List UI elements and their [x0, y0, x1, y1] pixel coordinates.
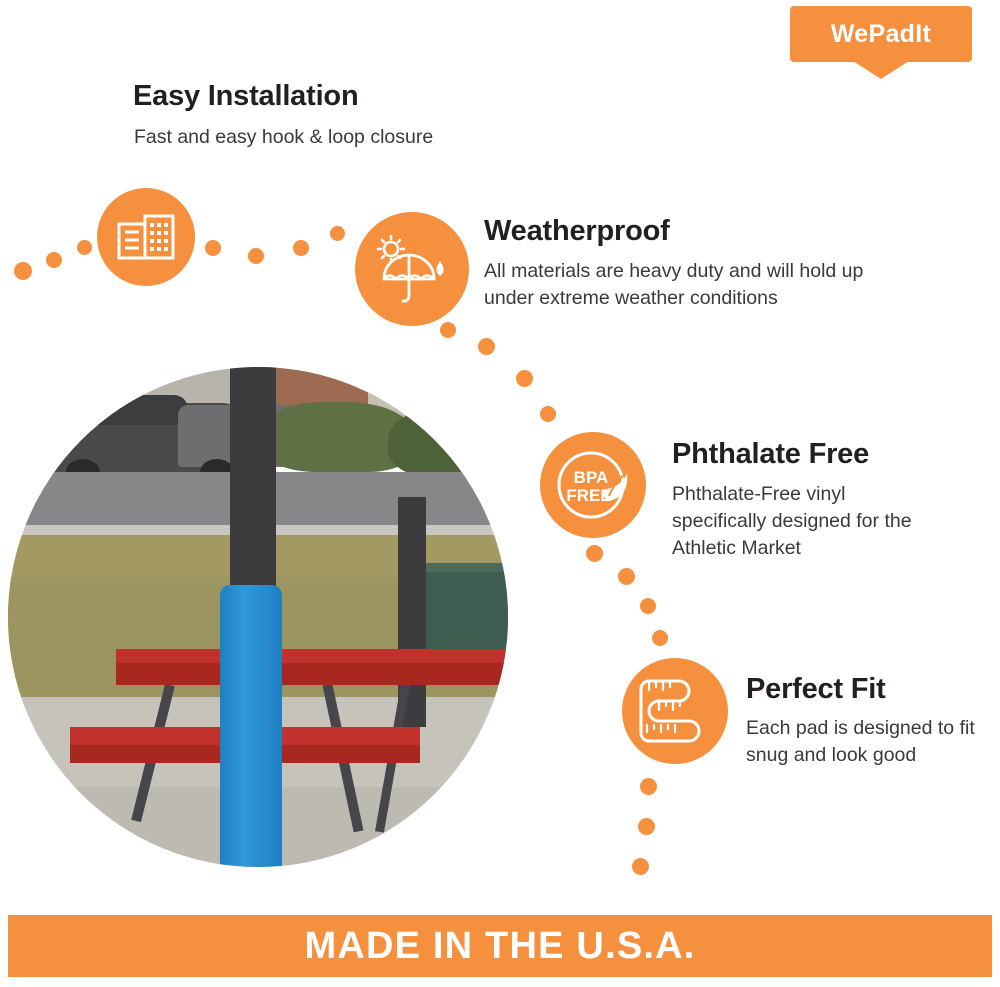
building-icon — [97, 188, 195, 286]
path-dot — [440, 322, 456, 338]
path-dot — [516, 370, 533, 387]
path-dot — [618, 568, 635, 585]
feature-title-weatherproof: Weatherproof — [484, 215, 670, 248]
feature-title-perfect-fit: Perfect Fit — [746, 673, 886, 706]
path-dot — [652, 630, 668, 646]
path-dot — [640, 778, 657, 795]
feature-description-easy-installation: Fast and easy hook & loop closure — [134, 124, 554, 151]
tape-measure-icon — [622, 658, 728, 764]
path-dot — [638, 818, 655, 835]
feature-description-weatherproof: All materials are heavy duty and will ho… — [484, 258, 914, 312]
path-dot — [632, 858, 649, 875]
bpa-free-leaf-icon: BPA FREE — [540, 432, 646, 538]
path-dot — [248, 248, 264, 264]
path-dot — [640, 598, 656, 614]
made-in-usa-text: MADE IN THE U.S.A. — [304, 925, 695, 968]
path-dot — [540, 406, 556, 422]
path-dot — [46, 252, 62, 268]
path-dot — [77, 240, 92, 255]
feature-description-perfect-fit: Each pad is designed to fit snug and loo… — [746, 715, 976, 769]
sun-umbrella-rain-icon — [355, 212, 469, 326]
product-photo — [8, 367, 508, 867]
product-feature-infographic: WePadIt Easy Installation Fast and easy … — [0, 0, 1000, 987]
brand-logo-text: WePadIt — [831, 20, 931, 49]
feature-title-easy-installation: Easy Installation — [133, 80, 358, 113]
feature-title-phthalate-free: Phthalate Free — [672, 438, 869, 471]
path-dot — [478, 338, 495, 355]
path-dot — [293, 240, 309, 256]
brand-logo-badge: WePadIt — [790, 6, 972, 62]
path-dot — [14, 262, 32, 280]
path-dot — [205, 240, 221, 256]
feature-description-phthalate-free: Phthalate-Free vinyl specifically design… — [672, 481, 942, 562]
path-dot — [330, 226, 345, 241]
path-dot — [586, 545, 603, 562]
bpa-badge-line1: BPA — [574, 468, 609, 487]
made-in-usa-banner: MADE IN THE U.S.A. — [8, 915, 992, 977]
